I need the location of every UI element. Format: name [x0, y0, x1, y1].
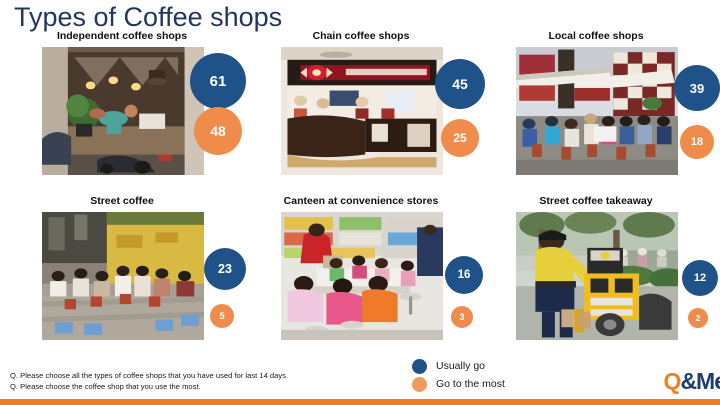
- usually-go-value: 45: [435, 59, 485, 109]
- go-to-the-most-value: 25: [441, 119, 479, 157]
- usually-go-value: 23: [204, 248, 246, 290]
- legend-item-usually-go: Usually go: [412, 357, 612, 375]
- go-to-the-most-value: 48: [194, 107, 242, 155]
- legend: Usually go Go to the most: [412, 357, 612, 393]
- photo-street-coffee: [42, 212, 204, 340]
- usually-go-value: 39: [674, 65, 720, 111]
- qandme-logo: Q&Me: [664, 368, 720, 394]
- coffee-type-cell: Chain coffee shops 4525: [245, 30, 477, 190]
- coffee-type-cell: Street coffee takeaway 122: [480, 195, 712, 355]
- coffee-type-cell: Local coffee shops 3918: [480, 30, 712, 190]
- footnotes: Q. Please choose all the types of coffee…: [10, 371, 288, 392]
- coffee-type-title: Street coffee takeaway: [480, 195, 712, 208]
- photo-chain-coffee-shop: [281, 47, 443, 175]
- legend-swatch-icon: [412, 377, 427, 392]
- logo-q: Q: [664, 368, 681, 394]
- go-to-the-most-value: 18: [680, 125, 714, 159]
- coffee-type-title: Independent coffee shops: [6, 30, 238, 43]
- logo-me: &Me: [680, 368, 720, 394]
- photo-canteen-convenience-store: [281, 212, 443, 340]
- legend-swatch-icon: [412, 359, 427, 374]
- photo-independent-coffee-shop: [42, 47, 204, 175]
- photo-street-coffee-takeaway: [516, 212, 678, 340]
- page-title: Types of Coffee shops: [14, 2, 282, 32]
- usually-go-value: 16: [445, 256, 483, 294]
- go-to-the-most-value: 2: [688, 308, 708, 328]
- coffee-type-cell: Street coffee 235: [6, 195, 238, 355]
- coffee-type-title: Local coffee shops: [480, 30, 712, 43]
- coffee-type-title: Chain coffee shops: [245, 30, 477, 43]
- coffee-type-title: Canteen at convenience stores: [245, 195, 477, 208]
- photo-local-coffee-shop: [516, 47, 678, 175]
- coffee-type-cell: Independent coffee shops 6148: [6, 30, 238, 190]
- coffee-shop-grid: Independent coffee shops 6148Chain coffe…: [0, 30, 720, 355]
- bottom-accent-bar: [0, 399, 720, 405]
- legend-label: Usually go: [436, 360, 485, 372]
- usually-go-value: 61: [190, 53, 246, 109]
- go-to-the-most-value: 3: [451, 306, 473, 328]
- footnote-line: Q. Please choose all the types of coffee…: [10, 371, 288, 382]
- coffee-type-title: Street coffee: [6, 195, 238, 208]
- usually-go-value: 12: [682, 260, 718, 296]
- legend-item-go-to-the-most: Go to the most: [412, 375, 612, 393]
- legend-label: Go to the most: [436, 378, 505, 390]
- footnote-line: Q. Please choose the coffee shop that yo…: [10, 382, 288, 393]
- go-to-the-most-value: 5: [210, 304, 234, 328]
- coffee-type-cell: Canteen at convenience stores 163: [245, 195, 477, 355]
